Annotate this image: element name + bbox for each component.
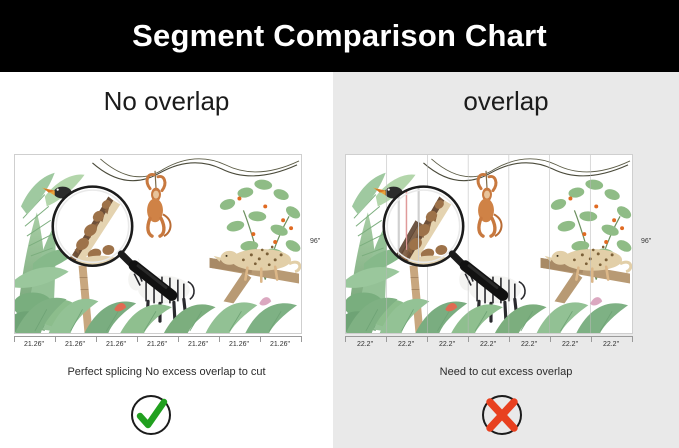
dimension-ruler-left: 21.26" 21.26" 21.26" 21.26" 21.26" 21.26… [14, 336, 302, 362]
ruler-tick [632, 336, 633, 342]
cross-icon [479, 392, 525, 438]
ruler-tick [96, 336, 97, 342]
segment-label: 22.2" [521, 341, 537, 348]
segment-label: 22.2" [603, 341, 619, 348]
segment-label: 21.26" [147, 341, 167, 348]
jungle-mural-art-left [15, 155, 301, 333]
ruler-tick [260, 336, 261, 342]
panel-heading-no-overlap: No overlap [0, 86, 333, 117]
segment-label: 21.26" [65, 341, 85, 348]
panel-no-overlap: No overlap [0, 72, 333, 448]
segment-label: 22.2" [398, 341, 414, 348]
panel-overlap: overlap [333, 72, 679, 448]
height-label-left: 96" [310, 238, 320, 245]
height-label-right: 96" [641, 238, 651, 245]
jungle-mural-art-right [346, 155, 632, 333]
comparison-panels: No overlap [0, 72, 679, 448]
ruler-tick [14, 336, 15, 342]
caption-left: Perfect splicing No excess overlap to cu… [0, 366, 333, 378]
ruler-tick [550, 336, 551, 342]
title-bar: Segment Comparison Chart [0, 0, 679, 72]
segment-label: 22.2" [562, 341, 578, 348]
verdict-check-left [128, 392, 174, 438]
ruler-tick [468, 336, 469, 342]
ruler-tick [219, 336, 220, 342]
dimension-ruler-right: 22.2" 22.2" 22.2" 22.2" 22.2" 22.2" 22.2… [345, 336, 633, 362]
ruler-tick [427, 336, 428, 342]
ruler-axis [345, 336, 633, 337]
ruler-tick [55, 336, 56, 342]
segment-label: 22.2" [357, 341, 373, 348]
ruler-tick [301, 336, 302, 342]
jungle-mural-right [345, 154, 633, 334]
ruler-tick [178, 336, 179, 342]
check-icon [128, 392, 174, 438]
mural-wrapper-left: 96" [14, 154, 302, 334]
ruler-axis [14, 336, 302, 337]
segment-label: 21.26" [229, 341, 249, 348]
page-title: Segment Comparison Chart [132, 18, 547, 54]
verdict-cross-right [479, 392, 525, 438]
jungle-mural-left [14, 154, 302, 334]
ruler-tick [137, 336, 138, 342]
ruler-tick [345, 336, 346, 342]
panel-heading-overlap: overlap [333, 86, 679, 117]
ruler-tick [591, 336, 592, 342]
segment-label: 21.26" [106, 341, 126, 348]
mural-wrapper-right: 96" [345, 154, 633, 334]
caption-right: Need to cut excess overlap [333, 366, 679, 378]
ruler-tick [509, 336, 510, 342]
segment-label: 22.2" [439, 341, 455, 348]
segment-label: 21.26" [188, 341, 208, 348]
ruler-tick [386, 336, 387, 342]
segment-label: 21.26" [270, 341, 290, 348]
segment-comparison-page: Segment Comparison Chart No overlap [0, 0, 679, 448]
segment-label: 21.26" [24, 341, 44, 348]
segment-label: 22.2" [480, 341, 496, 348]
